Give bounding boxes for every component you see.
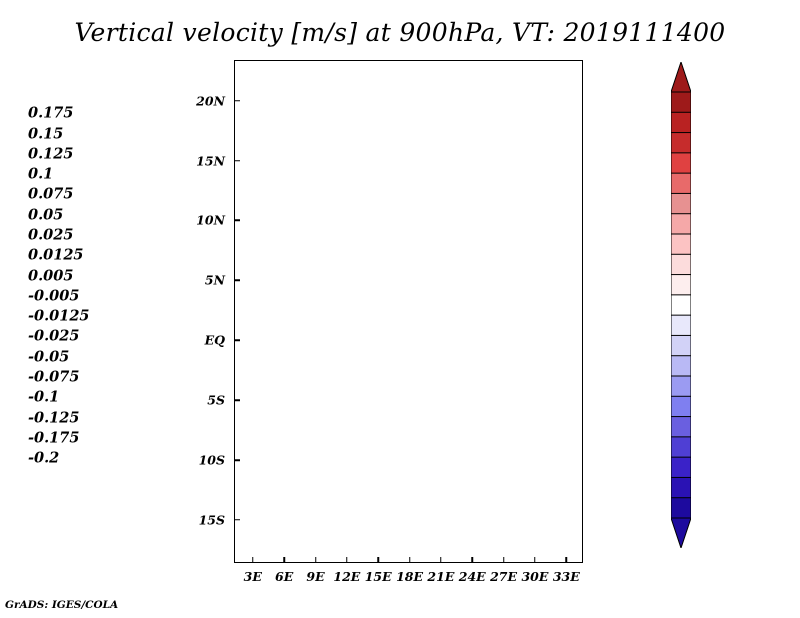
y-axis-tick-label: 15N: [196, 153, 225, 168]
y-axis-tick-label: 5S: [207, 393, 225, 408]
x-axis-tick-label: 18E: [396, 569, 423, 584]
y-axis-tick-mark: [234, 339, 240, 341]
x-axis-tick-label: 30E: [521, 569, 548, 584]
colorbar-tick-label: 0.1: [28, 166, 53, 183]
colorbar-tick-label: -0.2: [28, 450, 59, 467]
colorbar-tick-label: -0.1: [28, 389, 59, 406]
y-axis-tick-mark: [234, 399, 240, 401]
colorbar-tick-label: -0.075: [28, 369, 79, 386]
x-axis-tick-mark: [566, 557, 568, 563]
map-panel: 20N15N10N5NEQ5S10S15S 3E6E9E12E15E18E21E…: [234, 60, 583, 563]
x-axis-tick-label: 15E: [365, 569, 392, 584]
x-axis-tick-mark: [534, 557, 536, 563]
y-axis-tick-mark: [234, 519, 240, 521]
y-axis-tick-label: 20N: [196, 93, 225, 108]
x-axis-tick-mark: [503, 557, 505, 563]
x-axis-tick-label: 21E: [427, 569, 454, 584]
y-axis-tick-label: 10S: [199, 453, 225, 468]
x-axis-tick-label: 24E: [459, 569, 486, 584]
x-axis-tick-label: 12E: [333, 569, 360, 584]
y-axis-tick-mark: [234, 459, 240, 461]
y-axis-tick-mark: [234, 100, 240, 102]
colorbar-tick-label: -0.025: [28, 328, 79, 345]
y-axis-tick-mark: [234, 280, 240, 282]
y-axis-tick-mark: [234, 160, 240, 162]
grads-attribution: GrADS: IGES/COLA: [5, 599, 118, 611]
y-axis-tick-label: 15S: [199, 512, 225, 527]
x-axis-tick-mark: [252, 557, 254, 563]
x-axis-tick-mark: [315, 557, 317, 563]
colorbar-tick-label: 0.15: [28, 125, 63, 142]
colorbar-tick-label: -0.05: [28, 348, 69, 365]
x-axis-tick-label: 33E: [553, 569, 580, 584]
colorbar-tick-label: 0.125: [28, 145, 73, 162]
x-axis-tick-mark: [283, 557, 285, 563]
x-axis-tick-mark: [377, 557, 379, 563]
x-axis-tick-mark: [346, 557, 348, 563]
colorbar-tick-label: 0.0125: [28, 247, 84, 264]
colorbar-tick-label: 0.005: [28, 267, 73, 284]
y-axis-tick-mark: [234, 220, 240, 222]
x-axis-tick-label: 3E: [244, 569, 262, 584]
grads-plot-window: Vertical velocity [m/s] at 900hPa, VT: 2…: [0, 0, 800, 618]
colorbar: [671, 62, 691, 548]
colorbar-tick-label: -0.005: [28, 287, 79, 304]
colorbar-tick-label: 0.175: [28, 105, 73, 122]
colorbar-tick-label: 0.05: [28, 206, 63, 223]
colorbar-tick-label: -0.125: [28, 409, 79, 426]
y-axis-tick-label: EQ: [205, 333, 225, 348]
x-axis-tick-mark: [471, 557, 473, 563]
colorbar-tick-label: -0.0125: [28, 308, 90, 325]
page-title: Vertical velocity [m/s] at 900hPa, VT: 2…: [0, 18, 800, 47]
x-axis-tick-label: 9E: [306, 569, 324, 584]
y-axis-tick-label: 10N: [196, 213, 225, 228]
colorbar-tick-label: -0.175: [28, 429, 79, 446]
y-axis-tick-label: 5N: [205, 273, 225, 288]
x-axis-tick-label: 27E: [490, 569, 517, 584]
colorbar-tick-label: 0.075: [28, 186, 73, 203]
colorbar-tick-label: 0.025: [28, 227, 73, 244]
map-frame: [234, 60, 583, 563]
x-axis-tick-mark: [409, 557, 411, 563]
x-axis-tick-label: 6E: [275, 569, 293, 584]
x-axis-tick-mark: [440, 557, 442, 563]
